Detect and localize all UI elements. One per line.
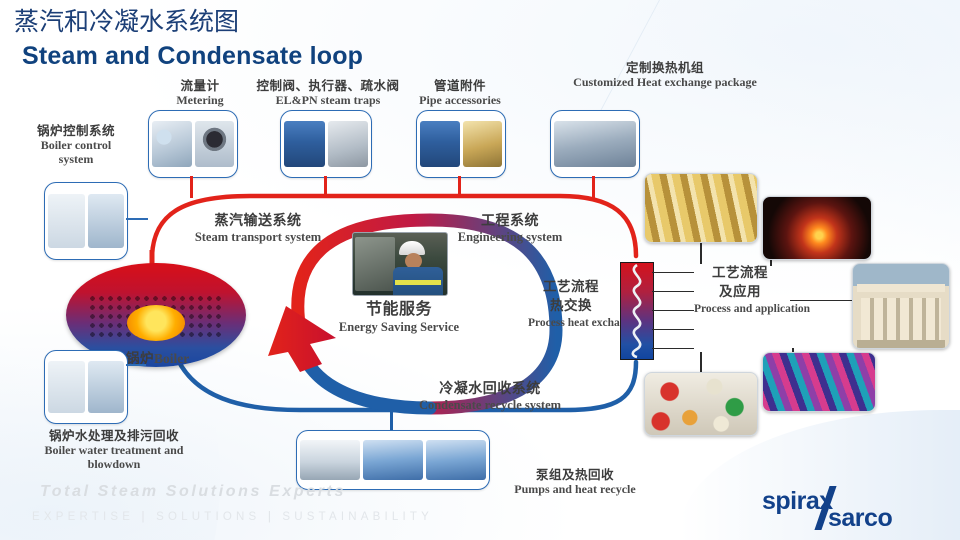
thumb-deaerator-tank — [300, 440, 360, 481]
hx-offtake-5 — [652, 348, 694, 349]
pillar-sustainability: SUSTAINABILITY — [282, 511, 433, 523]
product-box-control-valves[interactable] — [280, 110, 372, 178]
thumb-flow-computer — [152, 121, 192, 168]
thumb-gate-valve — [420, 121, 460, 168]
thumb-strainer — [463, 121, 503, 168]
thumb-blowdown-valve — [88, 361, 125, 412]
connector-boiler-control — [126, 218, 148, 220]
building-pedestal-shape — [857, 340, 945, 348]
label-boiler-water-treatment: 锅炉水处理及排污回收 Boiler water treatment and bl… — [24, 428, 204, 471]
photo-brewery-canning-line — [644, 173, 758, 243]
thumb-condensate-recovery-unit — [426, 440, 486, 481]
hx-offtake-2 — [652, 291, 694, 292]
connector-control-valves — [324, 176, 327, 198]
photo-textile-yarn-spools — [762, 352, 876, 412]
thumb-level-probe — [88, 194, 125, 249]
pillar-expertise: EXPERTISE — [32, 511, 134, 523]
connector-pumps — [390, 410, 393, 432]
hx-offtake-4 — [652, 329, 694, 330]
thumb-controller-panel — [48, 194, 85, 249]
footer-tagline: Total Steam Solutions Experts — [40, 483, 346, 501]
product-box-heat-exchange-package[interactable] — [550, 110, 640, 178]
label-boiler-control-system: 锅炉控制系统 Boiler control system — [28, 123, 124, 166]
hx-offtake-1 — [652, 272, 694, 273]
heat-exchanger-coil — [621, 263, 653, 359]
pillar-separator-1: | — [142, 511, 149, 523]
thumb-pump-unit — [363, 440, 423, 481]
photo-pharmaceutical-capsules — [644, 372, 758, 436]
vest-stripe-shape — [395, 280, 441, 285]
label-steam-transport-system: 蒸汽输送系统 Steam transport system — [178, 212, 338, 244]
label-heat-exchange-package: 定制换热机组 Customized Heat exchange package — [540, 60, 790, 89]
label-metering: 流量计 Metering — [160, 78, 240, 107]
label-engineering-system: 工程系统 Engineering system — [440, 212, 580, 244]
label-process-heat-exchange: 工艺流程 热交换 Process heat exchange — [528, 278, 614, 330]
label-condensate-recycle-system: 冷凝水回收系统 Condensate recycle system — [398, 380, 582, 412]
product-box-pumps[interactable] — [296, 430, 490, 490]
connector-pipe-accessories — [458, 176, 461, 198]
label-pipe-accessories: 管道附件 Pipe accessories — [400, 78, 520, 107]
pillar-solutions: SOLUTIONS — [156, 511, 260, 523]
connector-metering — [190, 176, 193, 198]
thumb-blowdown-controller — [48, 361, 85, 412]
heat-exchanger-unit — [620, 262, 654, 360]
building-columns-shape — [861, 298, 942, 343]
slide-canvas: 蒸汽和冷凝水系统图 Steam and Condensate loop — [0, 0, 960, 540]
photo-classical-building — [852, 263, 950, 349]
thumb-steam-trap — [328, 121, 369, 168]
thumb-flow-sensor — [195, 121, 235, 168]
spoke-to-building — [790, 300, 852, 301]
spirax-sarco-logo: spirax sarco — [756, 487, 946, 531]
hx-offtake-3 — [652, 310, 694, 311]
building-roof-shape — [857, 284, 945, 292]
product-box-boiler-control[interactable] — [44, 182, 128, 260]
machinery-shape — [355, 237, 395, 291]
thumb-control-valve — [284, 121, 325, 168]
connector-heat-exchange-package — [592, 176, 595, 198]
product-box-metering[interactable] — [148, 110, 238, 178]
logo-word-sarco: sarco — [828, 504, 892, 533]
footer-pillars: EXPERTISE | SOLUTIONS | SUSTAINABILITY — [32, 511, 433, 523]
pillar-separator-2: | — [268, 511, 275, 523]
photo-engineer-service — [352, 232, 448, 296]
connector-boiler-water-treatment — [126, 364, 146, 366]
product-box-boiler-water-treatment[interactable] — [44, 350, 128, 424]
label-process-and-application: 工艺流程 及应用 Process and application — [694, 264, 786, 316]
boiler-flame — [127, 305, 185, 341]
photo-refinery-at-sunset — [762, 196, 872, 260]
label-energy-saving-service: 节能服务 Energy Saving Service — [318, 298, 480, 334]
thumb-heat-exchange-skid — [554, 121, 636, 168]
label-pumps-and-heat-recycle: 泵组及热回收 Pumps and heat recycle — [480, 467, 670, 496]
label-control-valves: 控制阀、执行器、疏水阀 EL&PN steam traps — [253, 78, 403, 107]
product-box-pipe-accessories[interactable] — [416, 110, 506, 178]
